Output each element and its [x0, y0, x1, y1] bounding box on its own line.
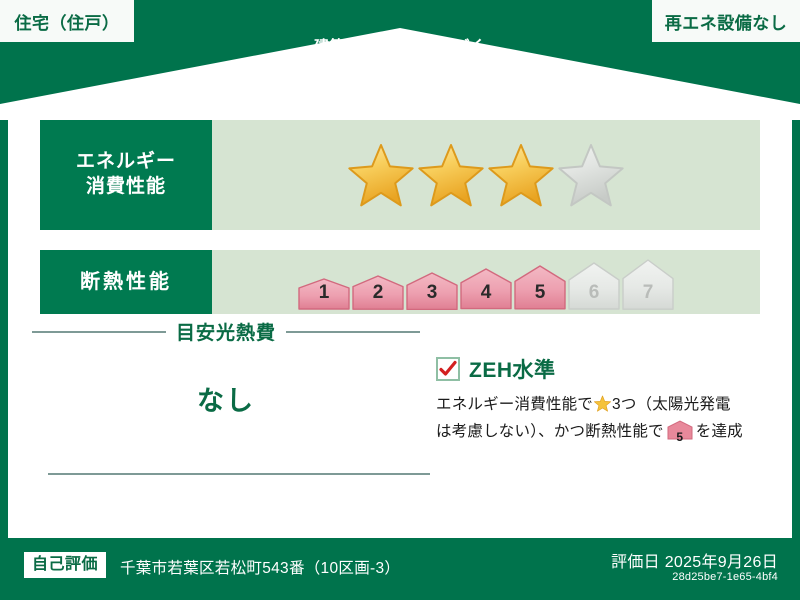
label-body: エネルギー 消費性能 断熱性能 1234567 目安光熱費 なし [8, 104, 792, 538]
insulation-grade-number: 2 [352, 282, 404, 304]
star-empty-icon [558, 142, 624, 208]
insulation-grade-5: 5 [514, 265, 566, 310]
insulation-grade-badge-icon: 5 [667, 420, 693, 448]
badge-building-type: 住宅（住戸） [0, 0, 134, 42]
zeh-description: エネルギー消費性能で 3つ（太陽光発電は考慮しない）、かつ断熱性能で 5を達成 [436, 393, 776, 448]
utility-cost-heading-label: 目安光熱費 [176, 318, 276, 345]
heading-rule-left [32, 331, 166, 333]
badge-renewable-energy-label: 再エネ設備なし [665, 9, 788, 34]
star-filled-icon [488, 142, 554, 208]
utility-cost-bottom-rule [48, 473, 430, 475]
star-filled-icon [348, 142, 414, 208]
insulation-grade-number: 5 [514, 282, 566, 304]
zeh-desc-part1: エネルギー消費性能で [436, 396, 593, 413]
zeh-heading: ZEH水準 [436, 354, 776, 384]
property-address: 千葉市若葉区若松町543番（10区画-3） [120, 556, 400, 578]
insulation-grade-number: 1 [298, 282, 350, 304]
utility-cost-column: 目安光熱費 なし [32, 318, 420, 418]
zeh-checkbox[interactable] [436, 357, 460, 381]
insulation-grade-scale: 1234567 [212, 250, 760, 314]
utility-cost-value: なし [32, 379, 420, 418]
energy-performance-label: エネルギー 消費性能 [40, 120, 212, 230]
zeh-column: ZEH水準 エネルギー消費性能で 3つ（太陽光発電は考慮しない）、かつ断熱性能で… [436, 354, 776, 448]
energy-performance-row: エネルギー 消費性能 [40, 120, 760, 230]
insulation-grade-number: 3 [406, 282, 458, 304]
star-filled-icon [418, 142, 484, 208]
self-evaluation-badge: 自己評価 [24, 552, 106, 578]
insulation-performance-label: 断熱性能 [40, 250, 212, 314]
energy-performance-label: 住宅（住戸） 再エネ設備なし 建築物省エネ法に基づく 省エネ性能ラベル エネルギ… [0, 0, 800, 600]
insulation-performance-row: 断熱性能 1234567 [40, 250, 760, 314]
energy-label-line2: 消費性能 [86, 175, 166, 200]
insulation-grade-6: 6 [568, 262, 620, 310]
evaluation-date: 評価日 2025年9月26日 [611, 548, 778, 572]
label-footer: 自己評価 千葉市若葉区若松町543番（10区画-3） 評価日 2025年9月26… [0, 538, 800, 600]
insulation-grade-2: 2 [352, 275, 404, 310]
insulation-label-text: 断熱性能 [80, 269, 172, 295]
insulation-grade-3: 3 [406, 272, 458, 310]
badge-renewable-energy: 再エネ設備なし [652, 0, 800, 42]
heading-rule-right [286, 331, 420, 333]
label-lower-section: 目安光熱費 なし ZEH水準 エネルギー消費性能で [8, 318, 792, 536]
label-header: 住宅（住戸） 再エネ設備なし 建築物省エネ法に基づく 省エネ性能ラベル [0, 0, 800, 120]
energy-label-line1: エネルギー [76, 150, 176, 175]
insulation-grade-number: 6 [568, 282, 620, 304]
evaluation-id: 28d25be7-1e65-4bf4 [672, 571, 778, 583]
label-title-block: 建築物省エネ法に基づく 省エネ性能ラベル [0, 38, 800, 95]
zeh-desc-part3: を達成 [696, 423, 743, 440]
zeh-desc-part2: は考慮しない）、かつ断熱性能で [436, 423, 664, 440]
insulation-grade-4: 4 [460, 268, 512, 310]
insulation-grade-number: 4 [460, 282, 512, 304]
utility-cost-heading: 目安光熱費 [32, 318, 420, 345]
insulation-grade-7: 7 [622, 259, 674, 310]
star-icon [594, 395, 611, 420]
insulation-grade-number: 7 [622, 282, 674, 304]
label-subtitle: 建築物省エネ法に基づく [0, 38, 800, 56]
badge-building-type-label: 住宅（住戸） [15, 9, 120, 34]
label-title: 省エネ性能ラベル [0, 60, 800, 95]
zeh-title: ZEH水準 [469, 354, 556, 384]
insulation-grade-1: 1 [298, 278, 350, 310]
insulation-grade-badge-value: 5 [667, 428, 693, 447]
check-icon [438, 359, 458, 379]
energy-star-rating [212, 120, 760, 230]
zeh-desc-star-count: 3つ（太陽光発電 [612, 396, 731, 413]
